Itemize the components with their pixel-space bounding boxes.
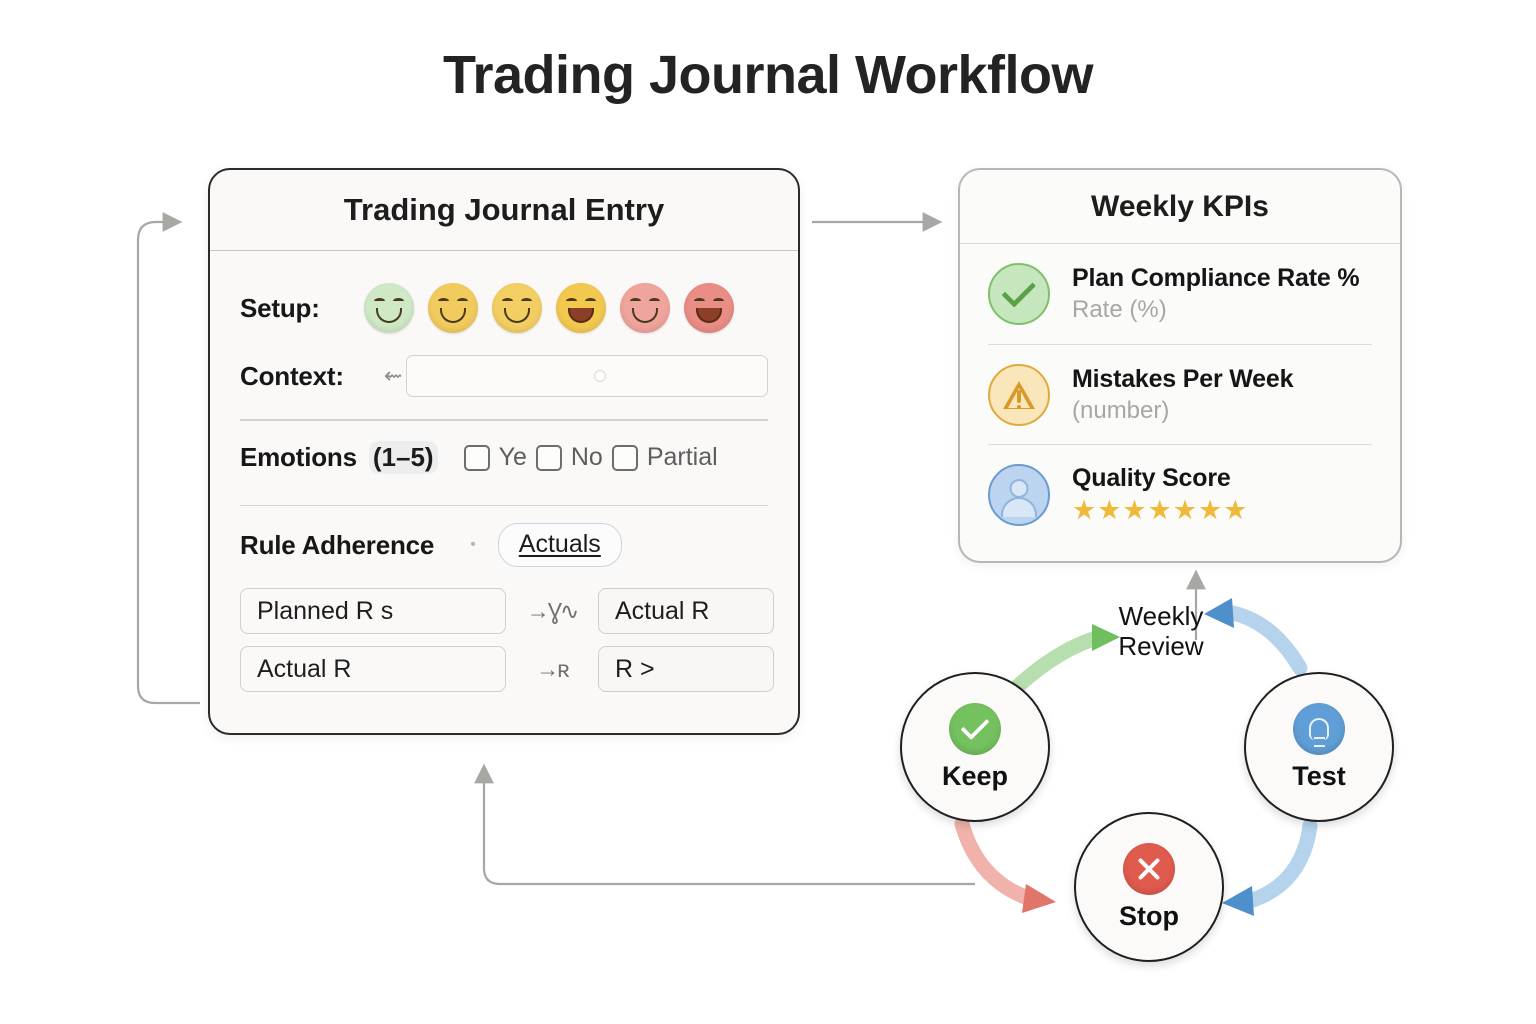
map-arrow-icon-1: →Ɣ∿	[506, 598, 598, 625]
planned-r-input[interactable]: Planned R s	[240, 588, 506, 634]
kpi-row-mistakes-per-week[interactable]: Mistakes Per Week (number)	[988, 344, 1372, 444]
setup-label: Setup:	[240, 293, 320, 324]
checkbox-label: No	[571, 443, 603, 472]
connector-left-loop	[138, 222, 200, 703]
checkbox-box[interactable]	[612, 445, 638, 471]
face-eye-left	[374, 298, 385, 304]
kpi-subtitle: (number)	[1072, 397, 1293, 425]
emotions-row: Emotions (1–5) Ye No Partial	[240, 421, 768, 495]
check-badge-icon	[949, 703, 1001, 755]
emotion-checkbox-group: Ye No Partial	[464, 443, 718, 472]
face-mouth	[632, 308, 658, 323]
face-eye-right	[649, 298, 660, 304]
person-body	[1001, 497, 1037, 517]
kpi-subtitle: Rate (%)	[1072, 296, 1359, 324]
face-yellow-1[interactable]	[428, 283, 478, 333]
face-green[interactable]	[364, 283, 414, 333]
page-title: Trading Journal Workflow	[0, 44, 1536, 106]
face-eye-right	[521, 298, 532, 304]
map-arrow-icon-2: →ʀ	[506, 656, 598, 683]
lightbulb-badge-icon	[1293, 703, 1345, 755]
checkbox-partial[interactable]: Partial	[612, 443, 718, 472]
kpi-text: Mistakes Per Week (number)	[1072, 365, 1293, 425]
actual-r-output[interactable]: Actual R	[598, 588, 774, 634]
star-rating[interactable]: ★★★★★★★	[1072, 496, 1248, 526]
setup-face-rating[interactable]	[364, 283, 734, 333]
check-circle-icon	[988, 263, 1050, 325]
x-badge-icon	[1123, 843, 1175, 895]
face-eye-right	[713, 298, 724, 304]
kpi-name: Quality Score	[1072, 464, 1248, 493]
face-mouth	[568, 308, 594, 323]
cycle-node-stop[interactable]: Stop	[1074, 812, 1224, 962]
actuals-pill[interactable]: Actuals	[498, 523, 622, 567]
face-eye-left	[566, 298, 577, 304]
face-eye-left	[694, 298, 705, 304]
context-arrow-icon: ⇜	[384, 363, 402, 389]
face-red-2[interactable]	[684, 283, 734, 333]
diagram-canvas: Trading Journal Workflow Trading Journal	[0, 0, 1536, 1024]
journal-card-title: Trading Journal Entry	[210, 170, 798, 228]
face-eye-left	[438, 298, 449, 304]
cycle-arrow-stop-to-test	[1250, 826, 1310, 901]
cycle-node-label: Test	[1292, 761, 1346, 792]
kpi-text: Plan Compliance Rate % Rate (%)	[1072, 264, 1359, 324]
kpi-text: Quality Score ★★★★★★★	[1072, 464, 1248, 526]
face-eye-left	[502, 298, 513, 304]
cycle-node-label: Keep	[942, 761, 1008, 792]
face-eye-right	[393, 298, 404, 304]
checkbox-yes[interactable]: Ye	[464, 443, 527, 472]
face-mouth	[376, 308, 402, 323]
face-eye-right	[585, 298, 596, 304]
rule-adherence-label: Rule Adherence	[240, 530, 434, 561]
kpi-row-plan-compliance[interactable]: Plan Compliance Rate % Rate (%)	[988, 244, 1372, 344]
cycle-node-test[interactable]: Test	[1244, 672, 1394, 822]
person-circle-icon	[988, 464, 1050, 526]
checkbox-box[interactable]	[536, 445, 562, 471]
weekly-review-line-2: Review	[1096, 632, 1226, 662]
warning-exclamation	[1017, 390, 1021, 403]
cycle-arrowhead-blue-1	[1222, 886, 1254, 916]
r-comparison-output[interactable]: R >	[598, 646, 774, 692]
cycle-node-keep[interactable]: Keep	[900, 672, 1050, 822]
checkbox-label: Ye	[499, 443, 527, 472]
context-input[interactable]	[406, 355, 768, 397]
weekly-review-line-1: Weekly	[1096, 602, 1226, 632]
face-eye-left	[630, 298, 641, 304]
warning-triangle-icon	[988, 364, 1050, 426]
emotions-label: Emotions	[240, 442, 357, 473]
rule-inputs-grid: Planned R s →Ɣ∿ Actual R Actual R →ʀ R >	[240, 586, 768, 694]
cycle-node-label: Stop	[1119, 901, 1179, 932]
rule-dot-icon: •	[470, 536, 476, 554]
checkbox-box[interactable]	[464, 445, 490, 471]
kpi-card-title: Weekly KPIs	[960, 170, 1400, 224]
cycle-arrow-test-to-review	[1228, 612, 1300, 668]
lightbulb-shape	[1309, 718, 1329, 740]
kpi-row-quality-score[interactable]: Quality Score ★★★★★★★	[988, 444, 1372, 544]
person-head	[1010, 479, 1029, 498]
rule-adherence-row: Rule Adherence • Actuals	[240, 506, 768, 584]
cycle-arrowhead-red	[1022, 884, 1056, 913]
cycle-arrow-keep-to-stop	[962, 824, 1028, 898]
kpi-list: Plan Compliance Rate % Rate (%) Mistakes…	[960, 244, 1400, 544]
context-label: Context:	[240, 361, 344, 392]
actual-r-input[interactable]: Actual R	[240, 646, 506, 692]
trading-journal-entry-card: Trading Journal Entry Setup:	[208, 168, 800, 735]
cycle-arrow-keep-to-review	[1018, 637, 1100, 686]
face-mouth	[440, 308, 466, 323]
checkbox-no[interactable]: No	[536, 443, 603, 472]
kpi-name: Mistakes Per Week	[1072, 365, 1293, 394]
journal-card-body: Setup:	[210, 251, 798, 694]
face-yellow-2[interactable]	[492, 283, 542, 333]
context-row: Context: ⇜	[240, 343, 768, 409]
face-eye-right	[457, 298, 468, 304]
emotions-range-label: (1–5)	[369, 441, 438, 474]
connector-bottom-loop	[484, 768, 975, 884]
weekly-review-label: Weekly Review	[1096, 602, 1226, 662]
face-mouth	[504, 308, 530, 323]
checkbox-label: Partial	[647, 443, 718, 472]
setup-row: Setup:	[240, 273, 768, 343]
face-yellow-3[interactable]	[556, 283, 606, 333]
face-red-1[interactable]	[620, 283, 670, 333]
weekly-kpis-card: Weekly KPIs Plan Compliance Rate % Rate …	[958, 168, 1402, 563]
face-mouth	[696, 308, 722, 323]
kpi-name: Plan Compliance Rate %	[1072, 264, 1359, 293]
